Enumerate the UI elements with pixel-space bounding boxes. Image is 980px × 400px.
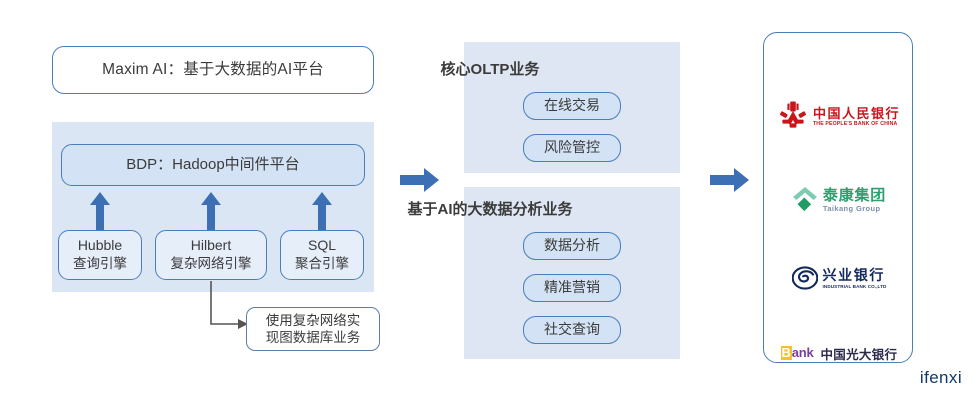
- engine-box-hubble[interactable]: Hubble 查询引擎: [58, 230, 142, 280]
- everbright-wordmark: Bank 中国光大银行: [781, 344, 898, 363]
- business-chip-online-trading[interactable]: 在线交易: [523, 92, 621, 120]
- industrial-bank-name-cn: 兴业银行: [823, 270, 887, 285]
- right-arrow-icon: [400, 167, 440, 193]
- pboc-name-cn: 中国人民银行: [813, 107, 900, 121]
- business-chip-data-analysis[interactable]: 数据分析: [523, 232, 621, 260]
- pboc-name: 中国人民银行 THE PEOPLE'S BANK OF CHINA: [813, 107, 900, 128]
- business-chip-social-query[interactable]: 社交查询: [523, 316, 621, 344]
- taikang-name: 泰康集团 Taikang Group: [823, 189, 886, 214]
- taikang-diamond-icon: [792, 186, 818, 217]
- client-logo-industrial-bank: 兴业银行 INDUSTRIAL BANK CO.,LTD: [764, 261, 914, 299]
- business-chip-precision-marketing[interactable]: 精准营销: [523, 274, 621, 302]
- clients-panel: 中国人民银行 THE PEOPLE'S BANK OF CHINA 泰康集团 T…: [763, 32, 913, 363]
- business-chip-risk-control[interactable]: 风险管控: [523, 134, 621, 162]
- industrial-bank-swirl-icon: [792, 266, 818, 295]
- callout-connector-arrow: [206, 281, 250, 333]
- engine-subtitle: 复杂网络引擎: [171, 255, 252, 272]
- everbright-b-tile: B: [781, 346, 792, 360]
- bdp-hadoop-platform-box[interactable]: BDP：Hadoop中间件平台: [61, 144, 365, 186]
- callout-graph-database-box[interactable]: 使用复杂网络实 现图数据库业务: [246, 307, 380, 351]
- engine-name: SQL: [308, 237, 336, 255]
- everbright-ank-text: ank: [792, 345, 814, 360]
- engine-name: Hubble: [78, 237, 122, 255]
- engine-box-sql[interactable]: SQL 聚合引擎: [280, 230, 364, 280]
- engine-subtitle: 查询引擎: [73, 255, 127, 272]
- diagram-canvas: Maxim AI：基于大数据的AI平台 BDP：Hadoop中间件平台 Hubb…: [0, 0, 980, 400]
- everbright-bank-word: Bank: [781, 344, 814, 362]
- callout-line-1: 使用复杂网络实: [266, 312, 361, 329]
- engine-box-hilbert[interactable]: Hilbert 复杂网络引擎: [155, 230, 267, 280]
- pboc-emblem-icon: [778, 100, 808, 135]
- everbright-name-cn: 中国光大银行: [821, 344, 898, 363]
- taikang-name-cn: 泰康集团: [823, 189, 886, 205]
- industrial-bank-name-en: INDUSTRIAL BANK CO.,LTD: [823, 285, 887, 290]
- industrial-bank-name: 兴业银行 INDUSTRIAL BANK CO.,LTD: [823, 270, 887, 291]
- client-logo-pboc: 中国人民银行 THE PEOPLE'S BANK OF CHINA: [764, 96, 914, 138]
- client-logo-taikang: 泰康集团 Taikang Group: [764, 181, 914, 221]
- watermark-ifenxi: ifenxi: [920, 368, 962, 388]
- engine-subtitle: 聚合引擎: [295, 255, 349, 272]
- pboc-name-en: THE PEOPLE'S BANK OF CHINA: [813, 122, 900, 127]
- callout-line-2: 现图数据库业务: [266, 329, 361, 346]
- engine-name: Hilbert: [191, 237, 231, 255]
- client-logo-everbright-bank: Bank 中国光大银行: [764, 338, 914, 368]
- right-arrow-icon: [710, 167, 750, 193]
- taikang-name-en: Taikang Group: [823, 205, 886, 213]
